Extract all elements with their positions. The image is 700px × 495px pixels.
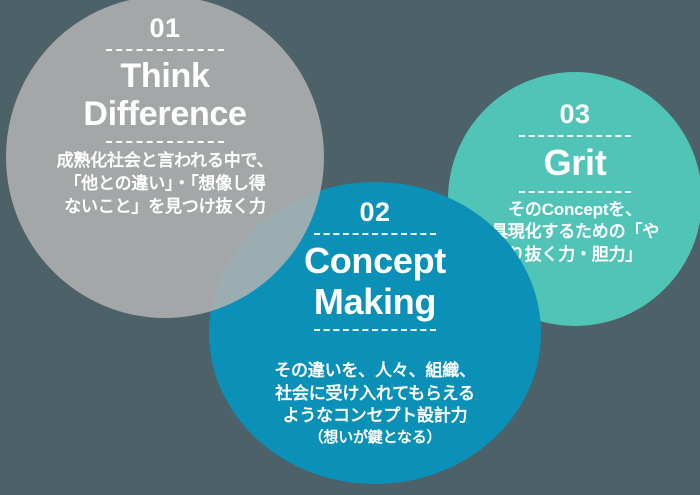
divider-dashed-top-grit xyxy=(519,135,631,137)
circle-number-03: 03 xyxy=(559,100,590,128)
circle-body-concept-note: （想いが鍵となる） xyxy=(274,428,476,448)
circle-body-concept-main: その違いを、人々、組織、 社会に受け入れてもらえる ようなコンセプト設計力 xyxy=(274,361,476,426)
circle-number-02: 02 xyxy=(359,198,390,226)
divider-dashed-top-think xyxy=(106,49,224,51)
circle-body-think-difference: 成熟化社会と言われる中で、 「他との違い」・「想像し得 ないこと」を見つけ抜く力 xyxy=(57,149,274,218)
divider-dashed-top-concept xyxy=(314,233,436,235)
circle-body-concept-making: その違いを、人々、組織、 社会に受け入れてもらえる ようなコンセプト設計力 （想… xyxy=(274,337,476,471)
circle-number-01: 01 xyxy=(149,14,180,42)
venn-circle-think-difference[interactable]: 01 Think Difference 成熟化社会と言われる中で、 「他との違い… xyxy=(6,0,324,318)
circle-heading-concept-making: Concept Making xyxy=(304,241,446,322)
circle-heading-think-difference: Think Difference xyxy=(83,57,246,133)
circle-heading-grit: Grit xyxy=(544,143,607,183)
divider-dashed-bottom-grit xyxy=(519,191,631,193)
divider-dashed-bottom-concept xyxy=(314,329,436,331)
divider-dashed-bottom-think xyxy=(106,141,224,143)
venn-diagram-canvas: 03 Grit そのConceptを、 具現化するための「や り抜く力・胆力」 … xyxy=(0,0,700,495)
